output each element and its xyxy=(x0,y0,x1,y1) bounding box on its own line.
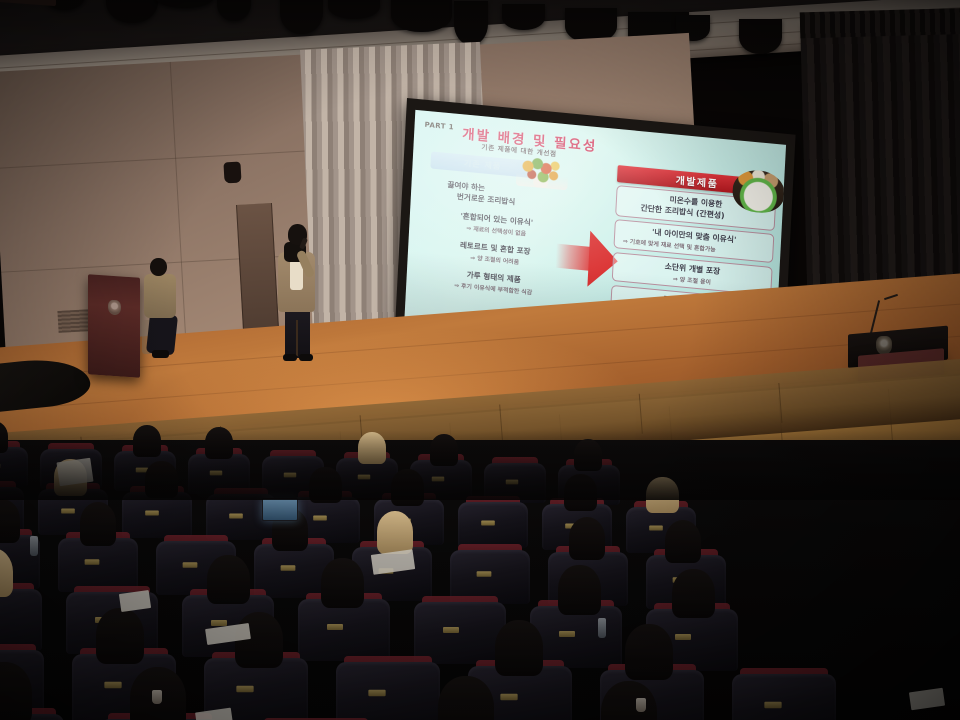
audience-member xyxy=(665,520,702,563)
audience-member xyxy=(133,425,162,457)
seat-number-plate xyxy=(501,694,518,700)
list-item: 레토르트 및 혼합 포장 ⇒ 양 조절의 어려움 xyxy=(420,236,571,271)
seat-number-plate xyxy=(84,560,99,566)
audience-member xyxy=(391,469,423,506)
ceiling-light-icon xyxy=(502,4,545,30)
handout-paper xyxy=(909,688,945,711)
list-item: '혼합되어 있는 이유식' ⇒ 재료의 선택성이 없음 xyxy=(421,207,572,242)
audience-member xyxy=(309,467,341,504)
seat-number-plate xyxy=(369,690,386,696)
seat-number-plate xyxy=(314,516,328,521)
audience-member xyxy=(96,608,144,664)
audience-member xyxy=(495,620,543,676)
list-item: 가루 형태의 제품 ⇒ 후기 이유식에 부적합한 식감 xyxy=(418,265,569,300)
ceiling-light-icon xyxy=(391,0,452,32)
seat-number-plate xyxy=(210,470,222,475)
audience-member xyxy=(558,565,600,615)
audience-member xyxy=(646,477,678,514)
audience-member xyxy=(205,427,234,459)
right-arrow-icon xyxy=(554,228,619,290)
ceiling-light-icon xyxy=(454,1,488,45)
seat-number-plate xyxy=(506,479,518,484)
seat-number-plate xyxy=(358,475,370,480)
seat-number-plate xyxy=(146,510,160,515)
wall-speaker-icon xyxy=(223,162,241,184)
audience-member xyxy=(564,474,596,511)
seat-number-plate xyxy=(284,473,296,478)
seat-number-plate xyxy=(182,563,197,569)
curtain-right-valance xyxy=(800,8,960,39)
audience-member xyxy=(207,555,249,605)
slide-part-label: PART 1 xyxy=(424,121,454,132)
audience-member xyxy=(569,517,606,560)
coffee-cup xyxy=(636,698,646,712)
seat-number-plate xyxy=(476,571,491,577)
seat-number-plate xyxy=(650,526,664,531)
seat-number-plate xyxy=(280,565,295,571)
handout-paper xyxy=(195,708,233,720)
audience-member xyxy=(377,511,414,554)
seat-number-plate xyxy=(237,686,254,692)
audience-member xyxy=(574,439,603,471)
seat-number-plate xyxy=(62,508,76,513)
audience-member xyxy=(145,461,177,498)
seat-number-plate xyxy=(765,702,782,708)
seated-participant xyxy=(140,258,184,368)
seat-number-plate xyxy=(432,477,444,482)
water-bottle xyxy=(598,618,606,638)
seat-number-plate xyxy=(675,634,691,640)
coffee-cup xyxy=(152,690,162,704)
auditorium-seat[interactable] xyxy=(732,674,836,720)
ceiling-light-icon xyxy=(739,19,782,54)
seat-number-plate xyxy=(482,521,496,526)
audience-member xyxy=(235,612,283,668)
vegetables-image xyxy=(516,153,570,191)
seat-number-plate xyxy=(443,627,459,633)
presenter xyxy=(272,224,324,370)
audience-member xyxy=(625,624,673,680)
handout-paper xyxy=(56,458,93,486)
audience-member xyxy=(672,569,714,619)
auditorium-seat[interactable] xyxy=(0,589,42,651)
auditorium-seat[interactable] xyxy=(530,606,622,668)
lectern-left xyxy=(88,274,140,378)
seat-number-plate xyxy=(230,513,244,518)
audience-area xyxy=(0,440,960,720)
auditorium-seat[interactable] xyxy=(336,662,440,720)
existing-product-list: 끓여야 하는 번거로운 조리밥식 '혼합되어 있는 이유식' ⇒ 재료의 선택성… xyxy=(418,177,574,308)
audience-member xyxy=(358,432,387,464)
auditorium-seat[interactable] xyxy=(298,599,390,661)
auditorium-scene: PART 1 개발 배경 및 필요성 기존 제품에 대한 개선점 기존 제품 끓… xyxy=(0,0,960,720)
water-bottle xyxy=(30,536,38,556)
laptop-screen xyxy=(262,498,298,521)
seat-number-plate xyxy=(327,624,343,630)
seat-number-plate xyxy=(105,682,122,688)
audience-member xyxy=(321,558,363,608)
audience-member xyxy=(80,502,117,545)
seat-number-plate xyxy=(559,631,575,637)
university-crest-icon xyxy=(108,300,121,316)
audience-member xyxy=(430,434,459,466)
